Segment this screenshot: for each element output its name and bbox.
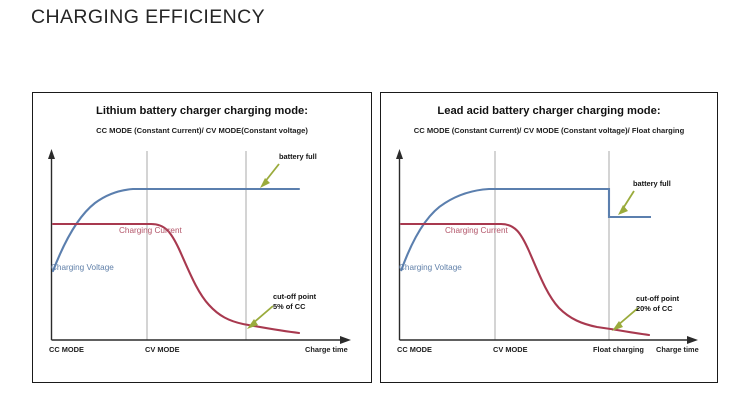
chart-svg-lithium bbox=[33, 93, 373, 384]
x-tick-float-charging-leadacid: Float charging bbox=[593, 345, 644, 354]
x-tick-cc-mode-leadacid: CC MODE bbox=[397, 345, 432, 354]
plot-area-lithium bbox=[33, 93, 371, 382]
chart-panel-lithium: Lithium battery charger charging mode: C… bbox=[32, 92, 372, 383]
x-axis-arrowhead bbox=[340, 336, 351, 344]
x-tick-cv-mode-lithium: CV MODE bbox=[145, 345, 180, 354]
chart-panel-leadacid: Lead acid battery charger charging mode:… bbox=[380, 92, 718, 383]
series-label-charging-voltage-lithium: Charging Voltage bbox=[51, 263, 114, 272]
cut-off-point-arrow bbox=[612, 308, 638, 331]
curve-charging-voltage bbox=[401, 189, 651, 271]
series-label-charging-voltage-leadacid: Charging Voltage bbox=[399, 263, 462, 272]
curve-charging-current bbox=[401, 224, 649, 335]
x-axis-arrowhead bbox=[687, 336, 698, 344]
annotation-battery-full-lithium: battery full bbox=[279, 152, 317, 162]
series-label-charging-current-leadacid: Charging Current bbox=[445, 226, 508, 235]
x-tick-cc-mode-lithium: CC MODE bbox=[49, 345, 84, 354]
cut-off-point-arrow bbox=[247, 306, 273, 329]
annotation-cut-off-line-1: cut-off point bbox=[636, 294, 679, 304]
x-axis-label-lithium: Charge time bbox=[305, 345, 348, 354]
curve-charging-current bbox=[53, 224, 299, 333]
annotation-cut-off-line-2: 5% of CC bbox=[273, 302, 316, 312]
annotation-battery-full-leadacid: battery full bbox=[633, 179, 671, 189]
annotation-cut-off-line-2: 20% of CC bbox=[636, 304, 679, 314]
battery-full-arrow bbox=[260, 164, 279, 188]
plot-area-leadacid bbox=[381, 93, 717, 382]
series-label-charging-current-lithium: Charging Current bbox=[119, 226, 182, 235]
page-title: CHARGING EFFICIENCY bbox=[31, 6, 265, 29]
annotation-cut-off-line-1: cut-off point bbox=[273, 292, 316, 302]
y-axis-arrowhead bbox=[396, 149, 403, 159]
annotation-cut-off-point-lithium: cut-off point 5% of CC bbox=[273, 292, 316, 312]
chart-svg-leadacid bbox=[381, 93, 719, 384]
x-axis-label-leadacid: Charge time bbox=[656, 345, 699, 354]
x-tick-cv-mode-leadacid: CV MODE bbox=[493, 345, 528, 354]
battery-full-arrow bbox=[618, 191, 634, 215]
annotation-cut-off-point-leadacid: cut-off point 20% of CC bbox=[636, 294, 679, 314]
y-axis-arrowhead bbox=[48, 149, 55, 159]
